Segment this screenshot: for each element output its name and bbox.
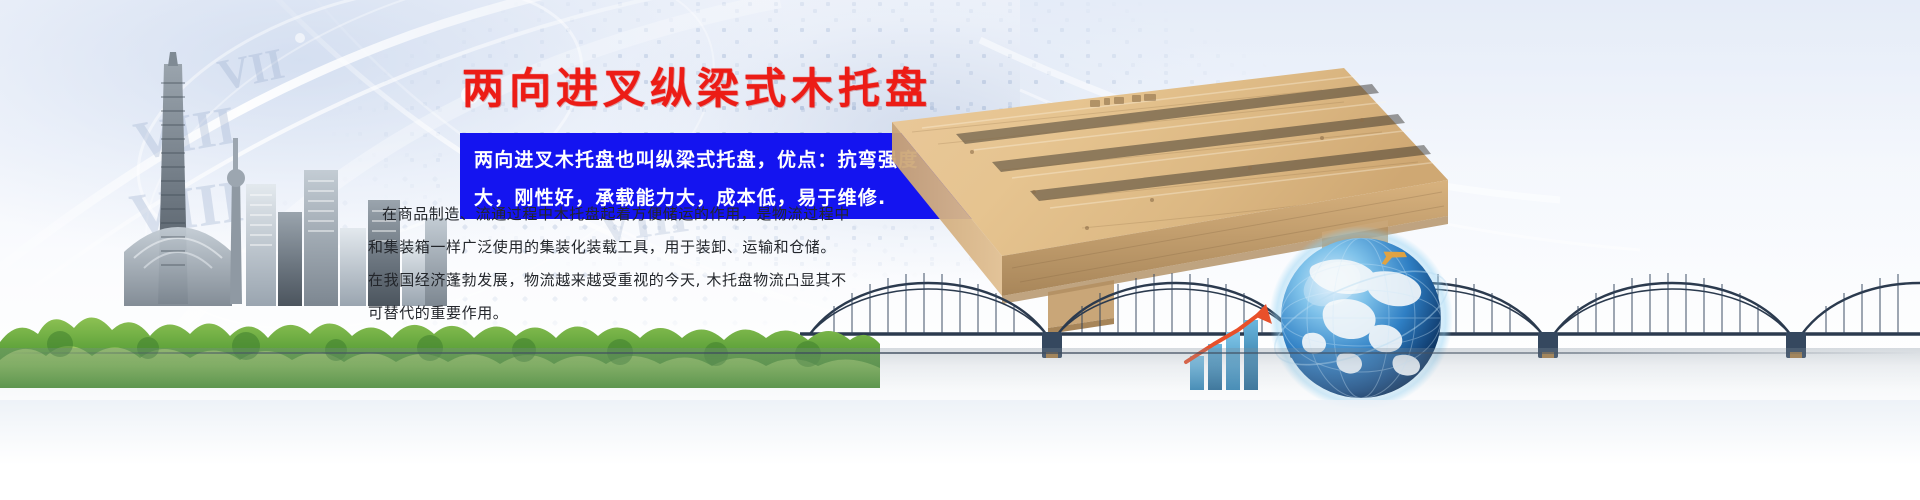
earth-globe-graphic xyxy=(1268,222,1454,408)
tree-line-foliage xyxy=(0,278,880,388)
description-line-1: 在商品制造、流通过程中木托盘起着方便储运的作用，是物流过程中 xyxy=(368,198,888,231)
bottom-fade xyxy=(0,400,1920,500)
product-banner: VII VIII VIII VIII xyxy=(0,0,1920,500)
